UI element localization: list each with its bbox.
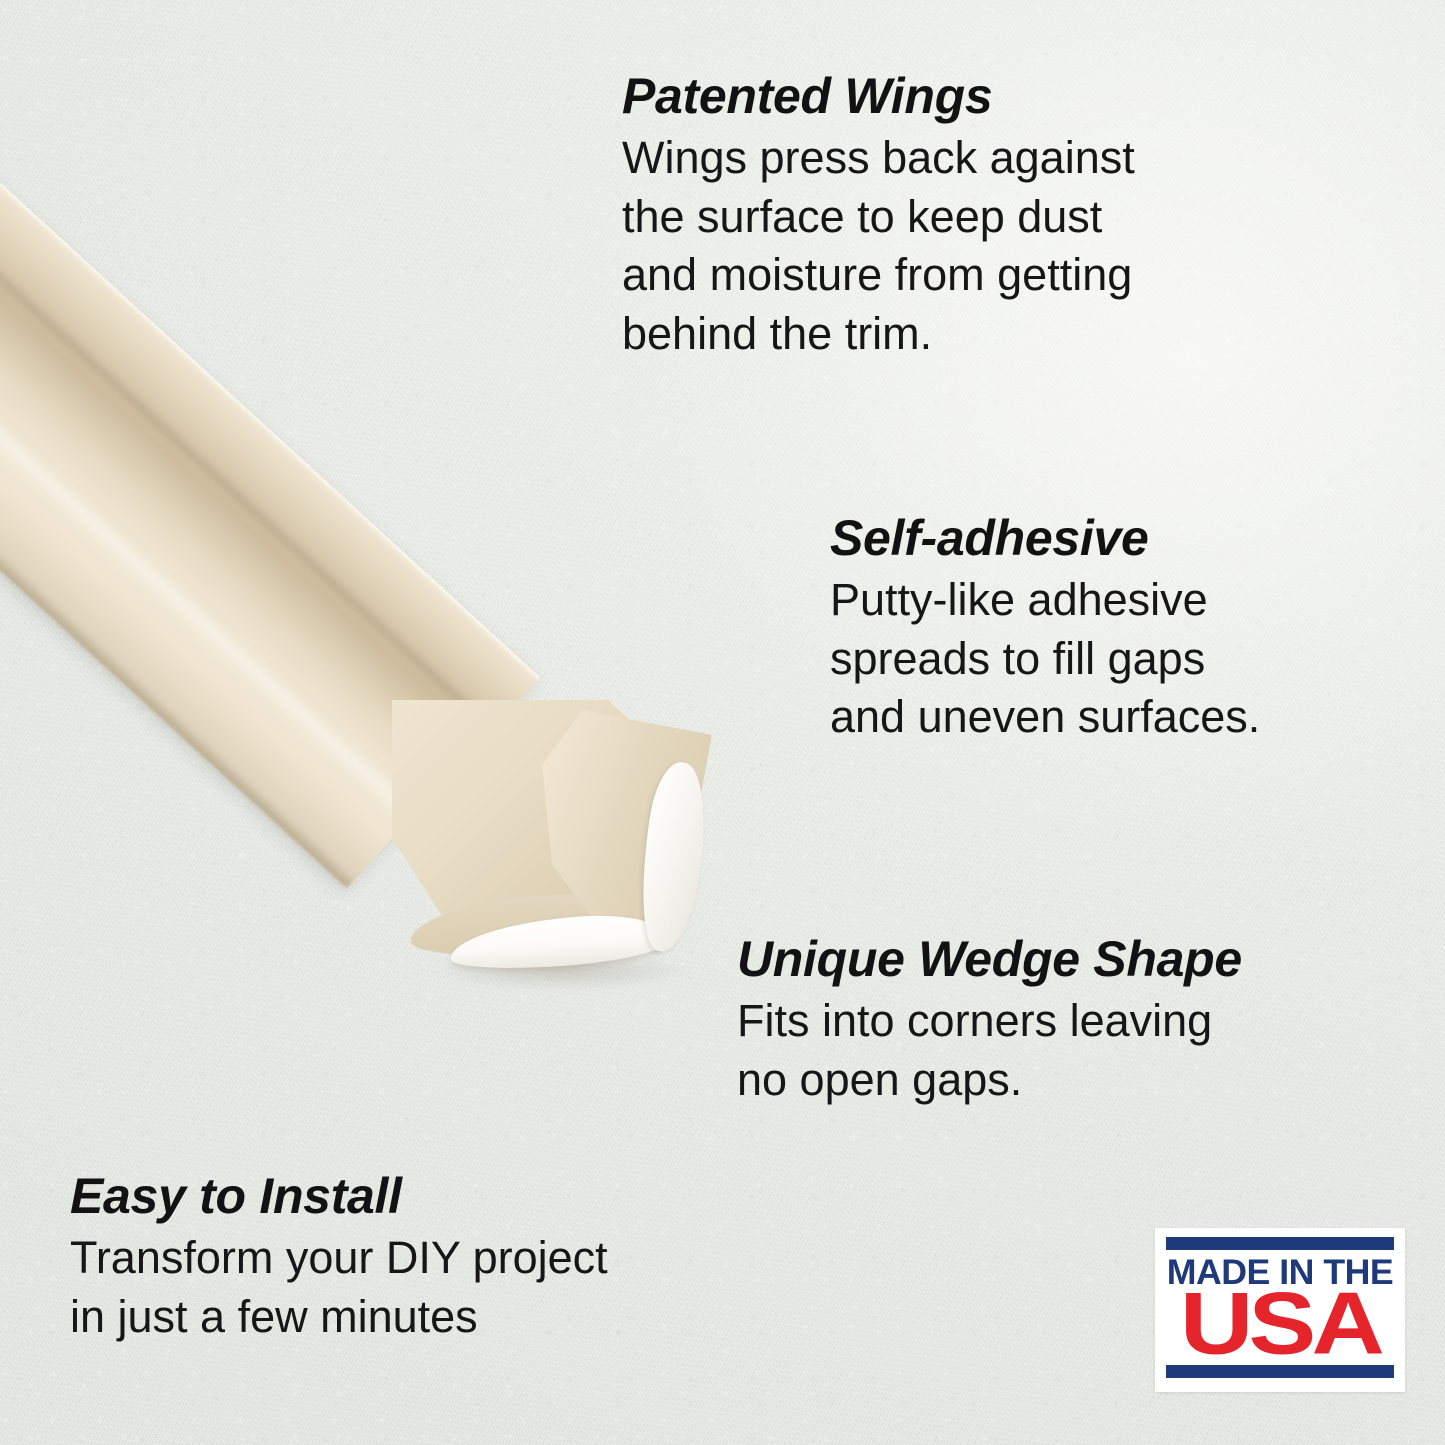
- feature-body: Fits into corners leaving no open gaps.: [737, 992, 1242, 1109]
- feature-body: Transform your DIY project in just a few…: [70, 1229, 608, 1346]
- feature-body-line: and moisture from getting: [622, 246, 1135, 305]
- feature-body-line: spreads to fill gaps: [830, 630, 1260, 689]
- feature-body-line: behind the trim.: [622, 305, 1135, 364]
- infographic-canvas: Patented Wings Wings press back against …: [0, 0, 1445, 1445]
- feature-self-adhesive: Self-adhesive Putty-like adhesive spread…: [830, 512, 1260, 747]
- feature-body-line: Wings press back against: [622, 129, 1135, 188]
- feature-body-line: the surface to keep dust: [622, 188, 1135, 247]
- feature-body-line: Fits into corners leaving: [737, 992, 1242, 1051]
- feature-body: Putty-like adhesive spreads to fill gaps…: [830, 571, 1260, 747]
- feature-body-line: Transform your DIY project: [70, 1229, 608, 1288]
- trim-center-highlight: [0, 11, 420, 824]
- feature-body-line: and uneven surfaces.: [830, 688, 1260, 747]
- feature-unique-wedge-shape: Unique Wedge Shape Fits into corners lea…: [737, 933, 1242, 1109]
- badge-usa-text: USA: [1145, 1287, 1414, 1362]
- feature-body: Wings press back against the surface to …: [622, 129, 1135, 363]
- badge-top-bar: [1166, 1237, 1394, 1250]
- feature-title: Self-adhesive: [830, 512, 1260, 565]
- feature-title: Unique Wedge Shape: [737, 933, 1242, 986]
- feature-body-line: no open gaps.: [737, 1051, 1242, 1110]
- feature-title: Easy to Install: [70, 1170, 608, 1223]
- feature-title: Patented Wings: [622, 70, 1135, 123]
- feature-patented-wings: Patented Wings Wings press back against …: [622, 70, 1135, 363]
- feature-body-line: in just a few minutes: [70, 1288, 608, 1347]
- feature-easy-to-install: Easy to Install Transform your DIY proje…: [70, 1170, 608, 1346]
- made-in-usa-badge: MADE IN THE USA: [1155, 1228, 1405, 1392]
- feature-body-line: Putty-like adhesive: [830, 571, 1260, 630]
- trim-peeled-end: [392, 700, 752, 1030]
